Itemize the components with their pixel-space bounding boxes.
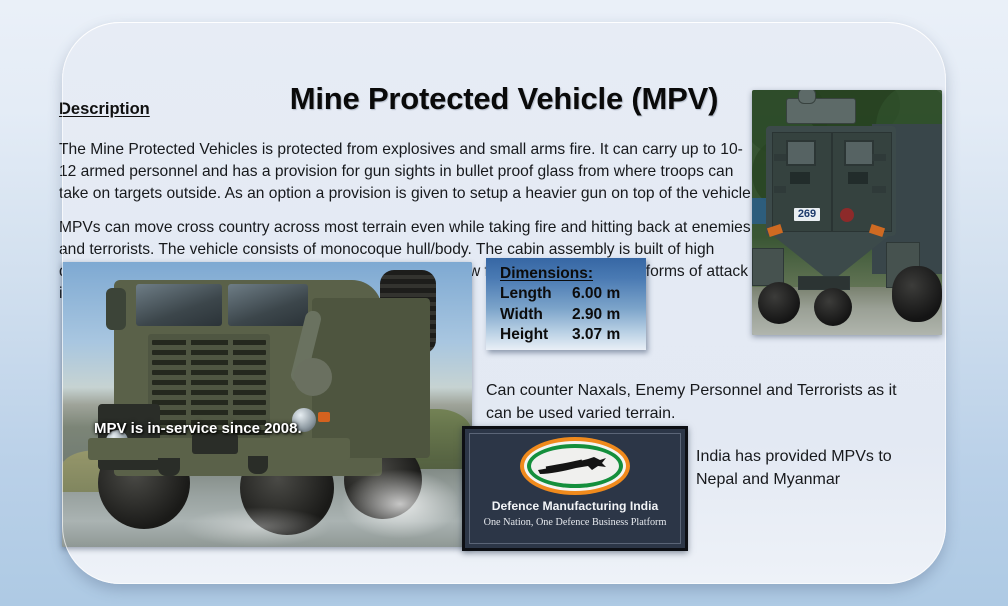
dimension-value: 3.07 m	[572, 325, 642, 346]
door-hinge	[872, 186, 886, 193]
side-mirror	[106, 288, 126, 330]
dimension-value: 6.00 m	[572, 284, 642, 305]
mpv-rear-photo: 269	[752, 90, 942, 335]
windshield	[228, 284, 308, 326]
roof-periscope	[798, 90, 816, 104]
water-spray	[340, 469, 460, 539]
table-row: Length 6.00 m	[486, 284, 646, 305]
counter-capability-text: Can counter Naxals, Enemy Personnel and …	[486, 380, 926, 425]
vision-port	[786, 140, 816, 166]
rear-bumper	[798, 276, 850, 290]
tow-hook	[158, 458, 180, 476]
door-hinge	[872, 154, 886, 161]
logo-name: Defence Manufacturing India	[465, 499, 685, 513]
number-plate: 269	[794, 208, 820, 221]
windshield	[136, 284, 222, 326]
description-paragraph-1: The Mine Protected Vehicles is protected…	[59, 139, 759, 205]
water-spray	[182, 507, 332, 547]
door-hinge	[774, 186, 786, 193]
mpv-front-photo: MPV is in-service since 2008.	[62, 262, 472, 547]
tire	[892, 266, 942, 322]
dimensions-table: Dimensions: Length 6.00 m Width 2.90 m H…	[486, 258, 646, 350]
air-cleaner	[294, 358, 332, 396]
logo-tagline: One Nation, One Defence Business Platfor…	[465, 517, 685, 528]
table-row: Width 2.90 m	[486, 305, 646, 326]
description-heading: Description	[59, 100, 150, 119]
tire	[758, 282, 800, 324]
arrow-silhouette-icon	[536, 455, 612, 477]
bumper-recess	[192, 434, 238, 454]
slide-card: Mine Protected Vehicle (MPV) Description…	[62, 22, 946, 584]
tow-hook	[248, 456, 268, 474]
export-note-text: India has provided MPVs to Nepal and Mya…	[696, 446, 936, 491]
tricolour-oval-emblem-icon	[520, 437, 630, 495]
dimension-label: Height	[500, 325, 572, 346]
dimensions-title: Dimensions:	[500, 265, 646, 283]
photo-caption: MPV is in-service since 2008.	[94, 420, 302, 437]
dimension-value: 2.90 m	[572, 305, 642, 326]
defence-manufacturing-india-logo: Defence Manufacturing India One Nation, …	[462, 426, 688, 551]
dimension-label: Length	[500, 284, 572, 305]
roof-hatch	[786, 98, 856, 124]
firing-slit	[790, 172, 810, 184]
table-row: Height 3.07 m	[486, 325, 646, 346]
dimension-label: Width	[500, 305, 572, 326]
stowage-box	[752, 248, 784, 286]
tail-marking	[840, 208, 854, 222]
v-hull-underside	[766, 230, 896, 282]
indicator-lamp	[318, 412, 330, 422]
firing-slit	[848, 172, 868, 184]
door-hinge	[774, 154, 786, 161]
tire	[814, 288, 852, 326]
vision-port	[844, 140, 874, 166]
